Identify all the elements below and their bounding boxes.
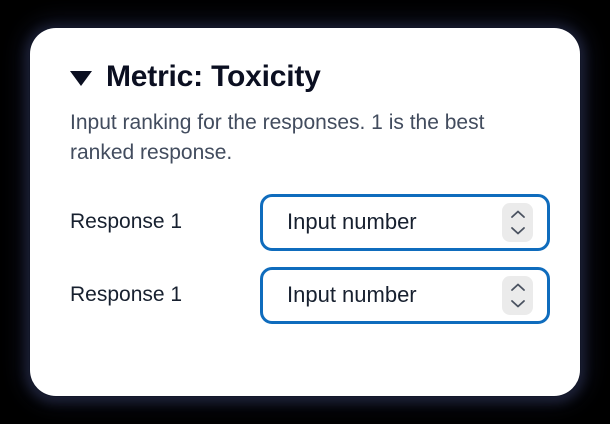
response-2-number-stepper[interactable] [502, 276, 533, 315]
response-2-input-text[interactable]: Input number [287, 282, 502, 308]
screen: Metric: Toxicity Input ranking for the r… [0, 0, 610, 424]
chevron-down-icon[interactable] [507, 297, 529, 310]
page-title: Metric: Toxicity [106, 60, 321, 94]
chevron-up-icon[interactable] [507, 207, 529, 220]
response-field-row: Response 1 Input number [70, 194, 550, 251]
response-1-number-input[interactable]: Input number [260, 194, 550, 251]
metric-card: Metric: Toxicity Input ranking for the r… [30, 28, 580, 396]
chevron-up-icon[interactable] [507, 280, 529, 293]
response-1-number-stepper[interactable] [502, 203, 533, 242]
metric-description: Input ranking for the responses. 1 is th… [70, 108, 530, 168]
response-field-row: Response 1 Input number [70, 267, 550, 324]
response-label: Response 1 [70, 283, 260, 307]
response-fields-list: Response 1 Input number [70, 194, 550, 324]
chevron-down-icon[interactable] [70, 71, 92, 86]
response-label: Response 1 [70, 210, 260, 234]
metric-header[interactable]: Metric: Toxicity [70, 60, 550, 94]
response-1-input-text[interactable]: Input number [287, 209, 502, 235]
chevron-down-icon[interactable] [507, 224, 529, 237]
response-2-number-input[interactable]: Input number [260, 267, 550, 324]
